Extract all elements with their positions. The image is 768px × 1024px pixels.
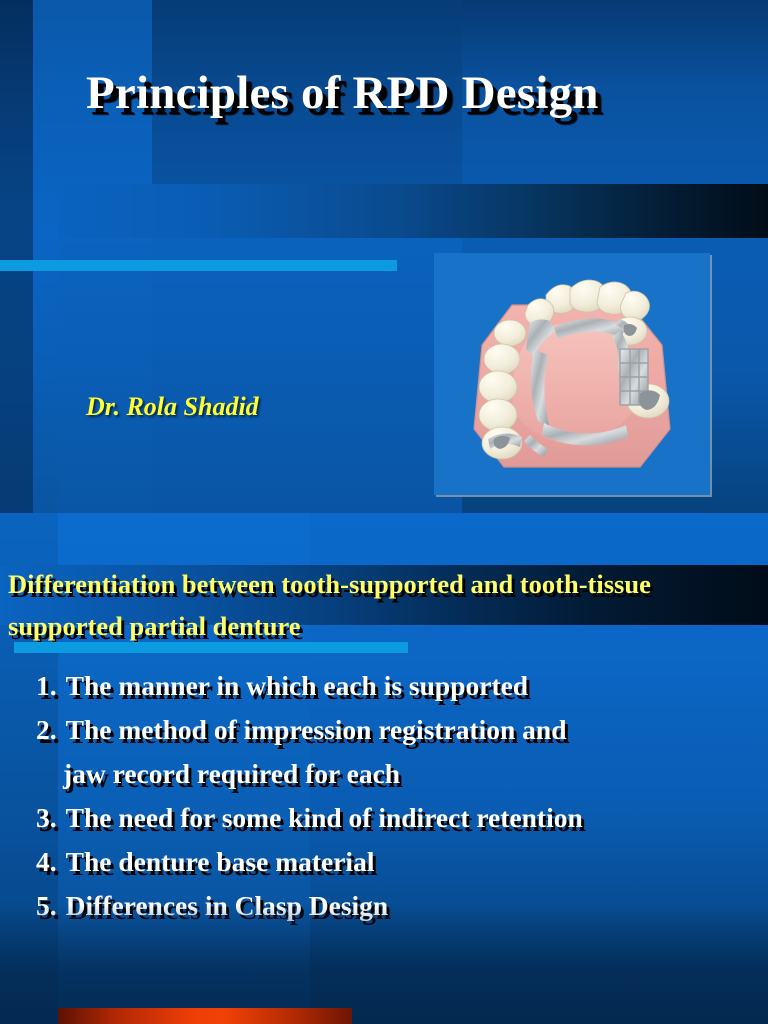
content-slide-panel: Differentiation between tooth-supported …: [0, 513, 768, 1024]
list-item-label: The manner in which each is supported: [66, 668, 748, 704]
slide-canvas: Principles of RPD Design Dr. Rola Shadid…: [0, 0, 768, 1024]
background-block-lower-center: [152, 238, 462, 513]
list-item-label: The need for some kind of indirect reten…: [66, 800, 748, 836]
list-item-label: The method of impression registration an…: [66, 712, 748, 748]
list-item: 1.The manner in which each is supported: [36, 668, 748, 704]
list-item-label: The denture base material: [66, 844, 748, 880]
list-item-number: 4.: [36, 844, 57, 880]
list-item-label: jaw record required for each: [63, 756, 748, 792]
accent-bar-title-slide: [0, 260, 397, 271]
list-item: jaw record required for each: [54, 756, 748, 792]
list-item: 2.The method of impression registration …: [36, 712, 748, 748]
content-bottom-shade: [0, 904, 768, 1024]
list-item-number: 1.: [36, 668, 57, 704]
section-heading: Differentiation between tooth-supported …: [8, 563, 760, 647]
accent-bar-content-slide: [14, 642, 408, 653]
background-dark-gradient-band: [58, 184, 768, 238]
page-title: Principles of RPD Design: [86, 66, 726, 120]
list-item: 4.The denture base material: [36, 844, 748, 880]
bullet-list: 1.The manner in which each is supported2…: [36, 668, 748, 932]
title-slide-panel: Principles of RPD Design Dr. Rola Shadid: [0, 0, 768, 513]
footer-accent-bar: [58, 1008, 352, 1024]
rpd-cast-illustration: [434, 253, 710, 495]
author-name: Dr. Rola Shadid: [86, 392, 259, 422]
list-item-number: 3.: [36, 800, 57, 836]
background-band-left: [0, 0, 33, 513]
maxillary-rpd-cast-photo: [434, 253, 710, 495]
list-item-number: 2.: [36, 712, 57, 748]
list-item: 3.The need for some kind of indirect ret…: [36, 800, 748, 836]
